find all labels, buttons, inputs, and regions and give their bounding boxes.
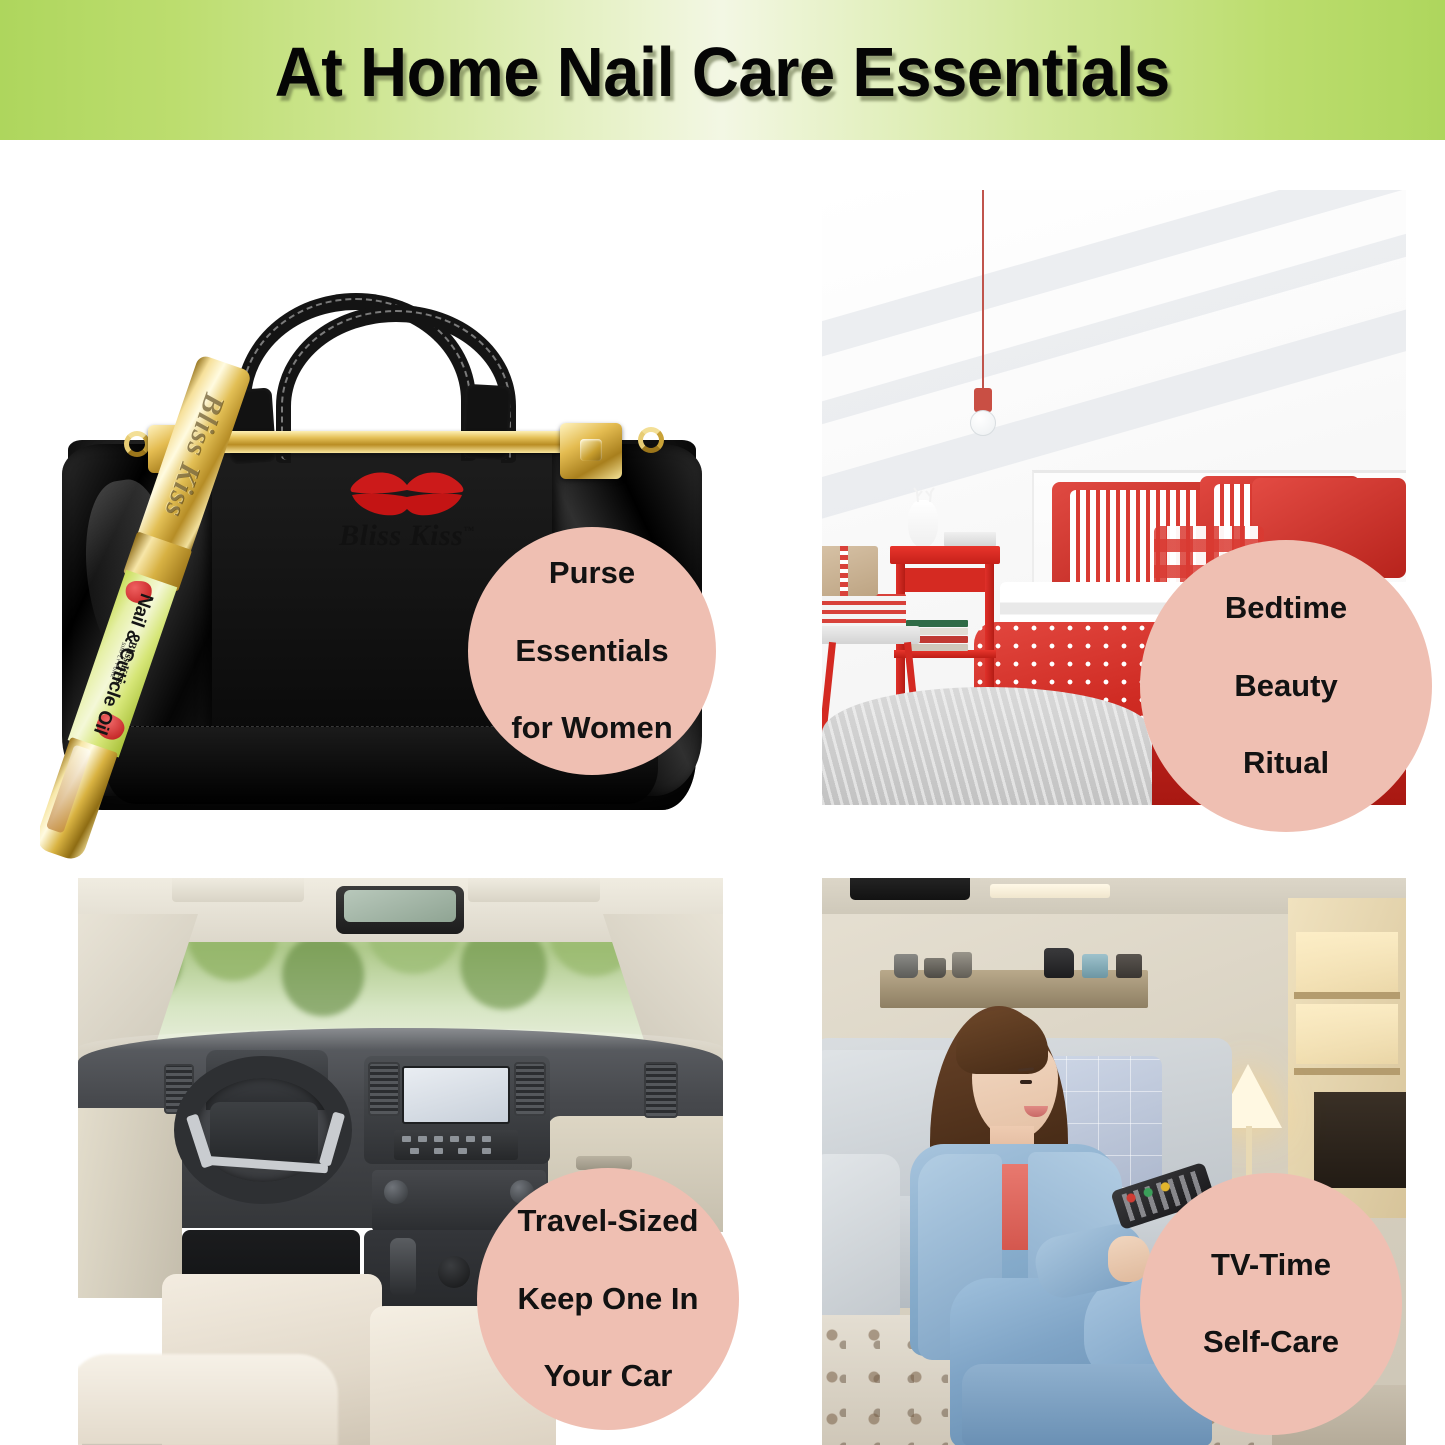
badge-bedtime-ritual: Bedtime Beauty Ritual — [1140, 540, 1432, 832]
radio-preset-3[interactable] — [434, 1136, 443, 1142]
bliss-kiss-logo: Bliss Kiss™ — [332, 471, 482, 575]
pendant-socket — [974, 388, 992, 412]
clasp-knob — [580, 439, 602, 461]
shelf-glow-2 — [1296, 1004, 1398, 1064]
air-vent-center-left — [368, 1062, 400, 1116]
shelf-glow-1 — [1296, 932, 1398, 992]
bliss-kiss-trademark: ™ — [463, 525, 475, 537]
radio-key-b[interactable] — [434, 1148, 443, 1154]
red-lips-icon — [349, 471, 465, 517]
mug-blue — [1082, 954, 1108, 978]
gear-shifter[interactable] — [390, 1238, 416, 1296]
radio-preset-6[interactable] — [482, 1136, 491, 1142]
cup-holder — [438, 1256, 470, 1288]
pendant-bulb-icon — [970, 410, 996, 436]
pot-2 — [924, 958, 946, 978]
driver-door-panel — [78, 1108, 182, 1298]
area-rug — [822, 687, 1152, 805]
mug-dark — [1116, 954, 1142, 978]
radio-preset-4[interactable] — [450, 1136, 459, 1142]
folded-textiles — [822, 594, 906, 628]
kettle — [1044, 948, 1074, 978]
radio-preset-2[interactable] — [418, 1136, 427, 1142]
badge-purse-text: Purse Essentials for Women — [491, 554, 692, 748]
radio-key-a[interactable] — [410, 1148, 419, 1154]
kitchen-counter — [880, 970, 1148, 1008]
badge-car-text: Travel-Sized Keep One In Your Car — [498, 1202, 719, 1396]
handbag-ring-left-icon — [124, 431, 150, 457]
ceiling-light-strip — [990, 884, 1110, 898]
sun-visor-left — [172, 878, 304, 902]
radio-preset-1[interactable] — [402, 1136, 411, 1142]
woman-hair-front — [956, 1010, 1048, 1074]
shelf-row-1 — [1294, 992, 1400, 999]
rug-texture — [822, 687, 1152, 805]
air-vent-right — [644, 1062, 678, 1118]
tv-ceiling-mount — [850, 878, 970, 900]
radio-key-c[interactable] — [458, 1148, 467, 1154]
badge-living-text: TV-Time Self-Care — [1183, 1246, 1359, 1362]
steering-wheel-hub — [210, 1102, 318, 1164]
radio-key-d[interactable] — [482, 1148, 491, 1154]
handbag-ring-right-icon — [638, 427, 664, 453]
badge-travel-sized: Travel-Sized Keep One In Your Car — [477, 1168, 739, 1430]
climate-knob-left[interactable] — [384, 1180, 408, 1204]
rearview-mirror-glass — [344, 890, 456, 922]
sun-visor-right — [468, 878, 600, 902]
gift-box — [822, 546, 878, 596]
bliss-kiss-wordmark-text: Bliss Kiss — [339, 519, 463, 552]
nightstand-drawer — [898, 568, 992, 592]
chair-seat — [822, 626, 920, 644]
badge-bedtime-text: Bedtime Beauty Ritual — [1205, 589, 1367, 783]
books-on-nightstand — [944, 532, 996, 546]
bliss-kiss-wordmark: Bliss Kiss™ — [332, 521, 482, 551]
sofa-armrest — [822, 1154, 900, 1330]
pot-3 — [952, 952, 972, 978]
shelf-row-2 — [1294, 1068, 1400, 1075]
nightstand-top — [890, 546, 1000, 564]
header-banner: At Home Nail Care Essentials — [0, 0, 1445, 140]
handbag-clasp-right — [560, 423, 622, 479]
air-vent-center-right — [514, 1062, 546, 1116]
gift-ribbon — [840, 546, 848, 596]
pendant-cord — [982, 190, 984, 390]
badge-tv-time: TV-Time Self-Care — [1140, 1173, 1402, 1435]
white-vase — [908, 500, 938, 548]
badge-purse-essentials: Purse Essentials for Women — [468, 527, 716, 775]
antler-ornament-icon — [912, 484, 936, 502]
radio-button-row[interactable] — [394, 1130, 518, 1160]
table-lamp-stem — [1246, 1126, 1252, 1180]
pot-1 — [894, 954, 918, 978]
infotainment-screen[interactable] — [402, 1066, 510, 1124]
page-title: At Home Nail Care Essentials — [275, 37, 1170, 107]
shelf-dark-compartment — [1314, 1092, 1406, 1188]
radio-preset-5[interactable] — [466, 1136, 475, 1142]
woman-eye — [1020, 1080, 1032, 1084]
foreground-seat-blur — [78, 1354, 338, 1445]
